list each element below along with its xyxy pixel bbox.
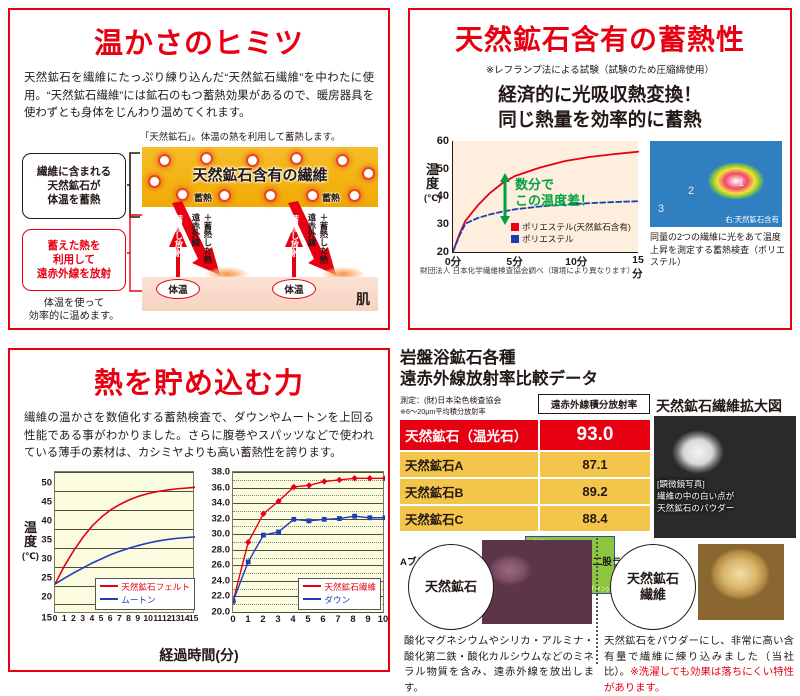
- legend-line-blue-icon: [100, 598, 118, 600]
- series-marker: [367, 475, 373, 481]
- ore-fiber-band: 天然鉱石含有の繊維 蓄熱 蓄熱: [142, 147, 378, 207]
- chart-bl-left-xtick: 4: [89, 613, 94, 623]
- table-row: 天然鉱石C88.4: [400, 506, 650, 531]
- chart-bl-left-xtick: 9: [135, 613, 140, 623]
- chart-bl-right-ytick: 34.0: [212, 498, 231, 509]
- ore-dot-icon: [292, 154, 301, 163]
- chart-bl-left-legend: 天然鉱石フェルト ムートン: [95, 578, 195, 610]
- chart-bl-right-xtick: 1: [245, 613, 250, 624]
- chart-bl-right-ytick: 22.0: [212, 591, 231, 602]
- section-divider: [596, 538, 598, 664]
- chart-tr-legend-label-0: ポリエステル(天然鉱石含有): [522, 222, 631, 232]
- panel-body-warmth: 天然鉱石を繊維にたっぷり練り込んだ“天然鉱石繊維”を中わたに使用。“天然鉱石繊維…: [10, 70, 388, 123]
- chart-bl-left-xtick: 1: [62, 613, 67, 623]
- arrow-up-label-1: 蓄熱し放射: [173, 215, 185, 257]
- chart-bl-right-xtick: 5: [305, 613, 310, 624]
- thermal-marker-3: 3: [658, 203, 664, 215]
- series-marker: [246, 560, 251, 565]
- heat-storage-chart-area: 温度(℃) 60 50 40 30 20 0分 5分 10分 15分 数分で こ…: [410, 141, 790, 273]
- temperature-gap-arrow-icon: [498, 173, 512, 225]
- diagram-box-emission-label: 蓄えた熱を 利用して 遠赤外線を放射: [37, 239, 111, 282]
- chart-bl-left-ytick: 35: [41, 535, 52, 546]
- chart-bl-ylabel: 温度(℃): [22, 521, 39, 562]
- body-temp-bubble-1: 体温: [156, 279, 200, 299]
- ore-data-title: 岩盤浴鉱石各種 遠赤外線放射率比較データ: [400, 348, 798, 390]
- series-marker: [276, 530, 281, 535]
- series-marker: [336, 477, 342, 483]
- series-marker: [351, 475, 357, 481]
- headline-line-1: 経済的に光吸収熱変換！: [410, 83, 790, 108]
- ore-dot-icon: [178, 190, 187, 199]
- chart-bl-left-legend-item-0: 天然鉱石フェルト: [100, 581, 190, 594]
- diagram-footnote: 体温を使って 効率的に温めます。: [18, 297, 130, 324]
- table-cell-name: 天然鉱石C: [400, 506, 538, 531]
- desc-ore-fiber-red: ※洗濯しても効果は落ちにくい特性があります。: [604, 667, 794, 694]
- chart-tr-legend-item-1: ポリエステル: [511, 233, 631, 245]
- ore-dot-icon: [338, 156, 347, 165]
- chart-tr-legend-label-1: ポリエステル: [522, 234, 574, 244]
- series-marker: [352, 514, 357, 519]
- thermal-image-note: 同量の2つの繊維に光をあて温度上昇を測定する蓄熱検査（ポリエステル）: [650, 231, 788, 269]
- series-marker: [367, 515, 372, 520]
- series-marker: [233, 599, 235, 604]
- chart-bl-right-ytick: 38.0: [212, 467, 231, 478]
- chart-bl-left-xtick: 2: [71, 613, 76, 623]
- heat-retention-charts: 温度(℃) 50 45 40 35 30 25 20 15: [10, 469, 388, 669]
- series-line: [55, 537, 195, 584]
- chart-bl-right-ytick: 28.0: [212, 544, 231, 555]
- panel-warmth-secret: 温かさのヒミツ 天然鉱石を繊維にたっぷり練り込んだ“天然鉱石繊維”を中わたに使用…: [8, 8, 390, 330]
- ore-comparison-section: 天然鉱石 酸化マグネシウムやシリカ・アルミナ・酸化第二鉄・酸化カルシウムなどのミ…: [398, 536, 798, 670]
- table-cell-name: 天然鉱石B: [400, 479, 538, 504]
- ore-callout-note: 「天然鉱石」。体温の熱を利用して蓄熱します。: [140, 129, 340, 143]
- chart-bl-left-legend-label-0: 天然鉱石フェルト: [121, 582, 190, 592]
- series-marker: [307, 519, 312, 524]
- diagram-box-storage-label: 繊維に含まれる 天然鉱石が 体温を蓄熱: [37, 165, 111, 208]
- fiber-heat-diagram: 「天然鉱石」。体温の熱を利用して蓄熱します。 繊維に含まれる 天然鉱石が 体温を…: [10, 129, 388, 311]
- thermal-marker-1: 1: [738, 177, 744, 189]
- series-marker: [322, 517, 327, 522]
- chart-bl-left-ytick: 15: [41, 612, 52, 623]
- panel-title-warmth: 温かさのヒミツ: [10, 20, 388, 62]
- heat-storage-headline: 経済的に光吸収熱変換！ 同じ熱量を効率的に蓄熱: [410, 83, 790, 133]
- ore-dot-icon: [160, 156, 169, 165]
- chart-bl-left-xtick: 15: [189, 613, 199, 623]
- ore-dot-icon: [150, 177, 159, 186]
- chart-tr-ytick: 40: [437, 190, 449, 202]
- table-row: 天然鉱石A87.1: [400, 452, 650, 477]
- chart-tr-annotation: 数分で この温度差！: [515, 177, 593, 210]
- skin-label: 肌: [356, 289, 370, 309]
- table-row: 天然鉱石（温光石）93.0: [400, 420, 650, 450]
- chart-bl-left-ytick: 25: [41, 572, 52, 583]
- test-method-note: ※レフランプ法による試験（試験のため圧縮綿使用）: [410, 62, 790, 76]
- table-cell-value: 89.2: [540, 479, 650, 504]
- arrow-up-label-2: 蓄熱し放射: [289, 215, 301, 257]
- chart-bl-right-xtick: 8: [350, 613, 355, 624]
- chart-bl-right-xtick: 2: [260, 613, 265, 624]
- series-marker: [291, 517, 296, 522]
- emissivity-table: 天然鉱石（温光石）93.0天然鉱石A87.1天然鉱石B89.2天然鉱石C88.4: [400, 420, 650, 533]
- thermal-image-polyester: 1 2 3 右:天然鉱石含有: [650, 141, 782, 227]
- ore-dot-icon: [266, 191, 275, 200]
- chart-bl-right-legend-label-0: 天然鉱石繊維: [324, 582, 376, 592]
- ore-data-title-line2: 遠赤外線放射率比較データ: [400, 369, 798, 390]
- bubble-ore-fiber-label: 天然鉱石 繊維: [627, 571, 679, 604]
- table-column-header: 遠赤外線積分放射率: [538, 394, 650, 414]
- chart-bl-left-ytick: 20: [41, 591, 52, 602]
- chart-bl-left-xtick: 8: [126, 613, 131, 623]
- chart-tr-legend: ポリエステル(天然鉱石含有) ポリエステル: [511, 221, 631, 246]
- table-cell-value: 88.4: [540, 506, 650, 531]
- diagram-box-storage: 繊維に含まれる 天然鉱石が 体温を蓄熱: [22, 153, 126, 219]
- chart-bl-left-xtick: 11: [153, 613, 162, 623]
- panel-ore-data: 岩盤浴鉱石各種 遠赤外線放射率比較データ 測定：(財)日本染色検査協会 ※6～2…: [398, 348, 798, 672]
- chart-bl-right-ytick: 26.0: [212, 560, 231, 571]
- ore-dot-icon: [350, 191, 359, 200]
- panel-title-heat-storage: 天然鉱石含有の蓄熱性: [410, 18, 790, 58]
- chart-tr-ytick: 50: [437, 163, 449, 175]
- panel-heat-retention: 熱を貯め込む力 繊維の温かさを数値化する蓄熱検査で、ダウンやムートンを上回る性能…: [8, 348, 390, 672]
- micrograph-image: [654, 416, 796, 538]
- bubble-ore-fiber: 天然鉱石 繊維: [610, 544, 696, 630]
- panel-heat-storage: 天然鉱石含有の蓄熱性 ※レフランプ法による試験（試験のため圧縮綿使用） 経済的に…: [408, 8, 792, 330]
- infographic-page: 温かさのヒミツ 天然鉱石を繊維にたっぷり練り込んだ“天然鉱石繊維”を中わたに使用…: [0, 0, 800, 680]
- headline-line-2: 同じ熱量を効率的に蓄熱: [410, 108, 790, 133]
- series-marker: [383, 515, 385, 520]
- chart-bl-right-ytick: 24.0: [212, 575, 231, 586]
- chart-bl-left-xtick: 6: [108, 613, 113, 623]
- ore-fiber-photo: [698, 544, 784, 620]
- ore-rock-photo: [482, 540, 592, 624]
- chart-bl-xtitle: 経過時間(分): [10, 645, 388, 665]
- chart-bl-left-xtick: 0: [53, 613, 58, 623]
- chart-bl-right-xtick: 4: [290, 613, 295, 624]
- chart-bl-right-ytick: 30.0: [212, 529, 231, 540]
- chart-bl-right-xtick: 10: [378, 613, 388, 624]
- chart-tr-legend-item-0: ポリエステル(天然鉱石含有): [511, 221, 631, 233]
- table-cell-name: 天然鉱石（温光石）: [400, 420, 538, 450]
- series-marker: [261, 533, 266, 538]
- chart-bl-left-xtick: 7: [117, 613, 122, 623]
- measurement-note: 測定：(財)日本染色検査協会 ※6～20μm平均積分放射率: [400, 396, 532, 417]
- desc-ore-fiber: 天然鉱石をパウダーにし、非常に高い含有量で繊維に練り込みました（当社比）。※洗濯…: [604, 634, 794, 696]
- series-marker: [306, 482, 312, 488]
- ore-dot-icon: [364, 169, 373, 178]
- chart-bl-right-ytick: 36.0: [212, 482, 231, 493]
- diagram-box-emission: 蓄えた熱を 利用して 遠赤外線を放射: [22, 229, 126, 291]
- brace-upper-icon: [126, 151, 142, 221]
- chart-bl-left-ytick: 40: [41, 516, 52, 527]
- chart-tr-source: 財団法人 日本化学繊維検査協会調べ（環境により異なります）: [420, 265, 635, 276]
- chart-tr-ytick: 30: [437, 218, 449, 230]
- ore-fiber-band-label: 天然鉱石含有の繊維: [142, 164, 378, 185]
- chart-bl-left-xtick: 10: [143, 613, 153, 623]
- ore-dot-icon: [248, 156, 257, 165]
- legend-swatch-red-icon: [511, 223, 519, 231]
- chart-bl-right-ytick: 20.0: [212, 607, 231, 618]
- chart-bl-left-legend-item-1: ムートン: [100, 594, 190, 607]
- series-marker: [321, 478, 327, 484]
- arrow-down-label-2: ＋蓄熱した熱 遠赤外線: [306, 213, 330, 263]
- ore-dot-icon: [202, 154, 211, 163]
- chart-bl-right-xtick: 3: [275, 613, 280, 624]
- bubble-natural-ore: 天然鉱石: [408, 544, 494, 630]
- chart-bl-right-legend-label-1: ダウン: [324, 595, 350, 605]
- chart-tr-annotation-line2: この温度差！: [515, 193, 593, 209]
- legend-line-blue-icon: [303, 598, 321, 600]
- ore-dot-icon: [308, 191, 317, 200]
- chart-bl-right-legend-item-1: ダウン: [303, 594, 376, 607]
- chart-tr-annotation-line1: 数分で: [515, 177, 593, 193]
- chart-bl-right-ytick: 32.0: [212, 513, 231, 524]
- micrograph-caption: [顕微鏡写真] 繊維の中の白い点が 天然鉱石のパウダー: [657, 478, 734, 514]
- chart-bl-right-xtick: 7: [335, 613, 340, 624]
- panel-body-heat-retention: 繊維の温かさを数値化する蓄熱検査で、ダウンやムートンを上回る性能である事がわかり…: [10, 410, 388, 463]
- measurement-note-line1: 測定：(財)日本染色検査協会: [400, 396, 532, 407]
- chart-bl-right-xtick: 9: [365, 613, 370, 624]
- legend-line-red-icon: [303, 585, 321, 587]
- chart-bl-left-ytick: 30: [41, 554, 52, 565]
- table-cell-value: 87.1: [540, 452, 650, 477]
- chart-bl-left-xtick: 3: [80, 613, 85, 623]
- thermal-image-caption: 右:天然鉱石含有: [725, 214, 779, 225]
- table-row: 天然鉱石B89.2: [400, 479, 650, 504]
- legend-swatch-blue-icon: [511, 235, 519, 243]
- table-cell-value: 93.0: [540, 420, 650, 450]
- table-cell-name: 天然鉱石A: [400, 452, 538, 477]
- chart-bl-right-plot: 38.0 36.0 34.0 32.0 30.0 28.0 26.0 24.0 …: [232, 471, 384, 613]
- series-line: [55, 487, 195, 584]
- ore-dot-icon: [220, 191, 229, 200]
- arrow-down-label-1: ＋蓄熱した熱 遠赤外線: [190, 213, 214, 263]
- series-marker: [382, 475, 385, 481]
- series-marker: [245, 539, 251, 545]
- chart-bl-right-xtick: 0: [230, 613, 235, 624]
- legend-line-red-icon: [100, 585, 118, 587]
- desc-natural-ore: 酸化マグネシウムやシリカ・アルミナ・酸化第二鉄・酸化カルシウムなどのミネラル物質…: [404, 634, 594, 696]
- series-marker: [337, 516, 342, 521]
- chart-bl-right-legend: 天然鉱石繊維 ダウン: [298, 578, 381, 610]
- panel-title-heat-retention: 熱を貯め込む力: [10, 360, 388, 402]
- body-temp-bubble-2: 体温: [272, 279, 316, 299]
- chart-bl-right-xtick: 6: [320, 613, 325, 624]
- chart-bl-left-xtick: 5: [99, 613, 104, 623]
- thermal-marker-2: 2: [688, 185, 694, 197]
- chart-tr-plot: 60 50 40 30 20 0分 5分 10分 15分 数分で この温度差！: [452, 141, 638, 253]
- ore-data-title-line1: 岩盤浴鉱石各種: [400, 348, 798, 369]
- chart-bl-left-ytick: 50: [41, 478, 52, 489]
- measurement-note-line2: ※6～20μm平均積分放射率: [400, 407, 532, 417]
- chart-bl-left-ytick: 45: [41, 497, 52, 508]
- chart-tr-ytick: 60: [437, 135, 449, 147]
- chart-bl-right-legend-item-0: 天然鉱石繊維: [303, 581, 376, 594]
- micrograph-title: 天然鉱石繊維拡大図: [656, 396, 782, 416]
- chart-bl-left-legend-label-1: ムートン: [121, 595, 155, 605]
- chart-bl-left-plot: 50 45 40 35 30 25 20 15 天然鉱石フェルト ムートン: [54, 471, 194, 613]
